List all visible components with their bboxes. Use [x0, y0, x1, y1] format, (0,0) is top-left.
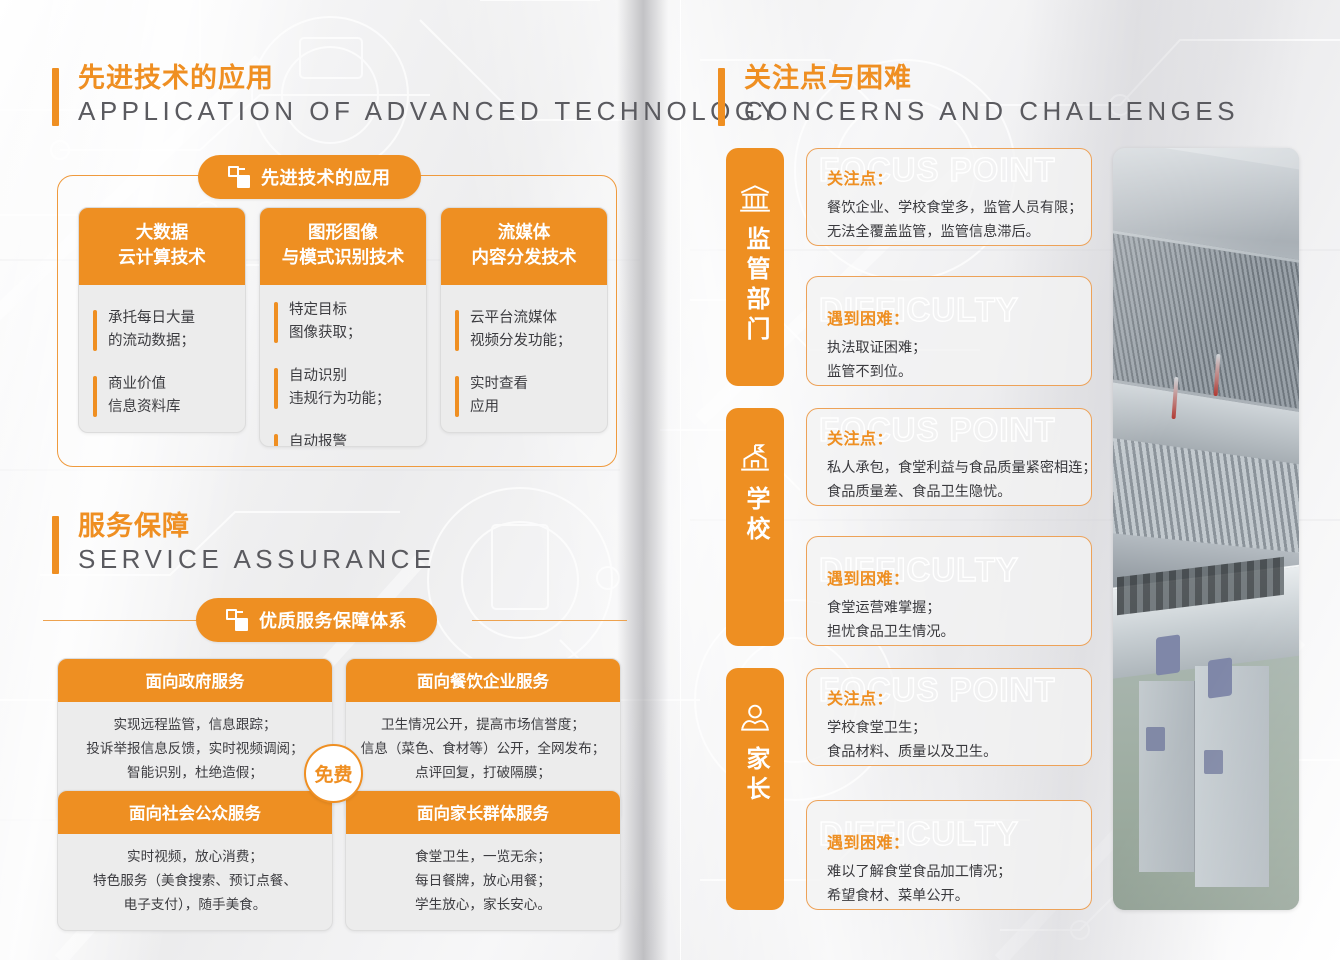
difficulty-card-title: 遇到困难： [827, 829, 1073, 853]
row-tab-school[interactable]: 学校 [726, 408, 784, 646]
tech-card-title-line2: 云计算技术 [85, 245, 239, 270]
tech-card-title-line1: 流媒体 [447, 220, 601, 245]
pill-label: 先进技术的应用 [261, 164, 391, 190]
row-tab-label: 家长 [743, 746, 767, 806]
tech-card-body: 特定目标 图像获取； 自动识别 违规行为功能； 自动报警 模式 [260, 285, 426, 447]
pill-service-assurance[interactable]: 优质服务保障体系 [196, 598, 437, 642]
divider-left [43, 620, 198, 621]
row-tab-label: 学校 [743, 486, 767, 546]
tech-card-image-recognition: 图形图像 与模式识别技术 特定目标 图像获取； 自动识别 违规行为功能； 自动报… [259, 207, 427, 447]
tech-card-streaming: 流媒体 内容分发技术 云平台流媒体 视频分发功能； 实时查看 应用 [440, 207, 608, 433]
person-icon [738, 702, 772, 736]
focus-card-title: 关注点： [827, 685, 1073, 709]
heading-title-en: CONCERNS AND CHALLENGES [744, 94, 1239, 129]
focus-card-regulator: FOCUS POINT 关注点： 餐饮企业、学校食堂多，监管人员有限； 无法全覆… [806, 148, 1092, 246]
section-heading-concerns: 关注点与困难 CONCERNS AND CHALLENGES [718, 62, 1239, 129]
tech-card-bigdata: 大数据 云计算技术 承托每日大量 的流动数据； 商业价值 信息资料库 [78, 207, 246, 433]
school-building-icon [738, 442, 772, 476]
tech-bullet: 实时查看 应用 [455, 373, 597, 420]
free-badge: 免费 [304, 744, 363, 803]
tech-bullet: 承托每日大量 的流动数据； [93, 307, 235, 354]
commercial-kitchen-photo [1113, 148, 1299, 910]
focus-card-title: 关注点： [827, 425, 1073, 449]
tech-card-title-line2: 内容分发技术 [447, 245, 601, 270]
technology-card-list: 大数据 云计算技术 承托每日大量 的流动数据； 商业价值 信息资料库 图形图像 … [78, 207, 608, 447]
service-box-body: 食堂卫生，一览无余； 每日餐牌，放心用餐； 学生放心，家长安心。 [346, 834, 620, 930]
tech-bullet: 自动报警 模式 [274, 431, 416, 447]
section-heading-advanced-technology: 先进技术的应用 APPLICATION OF ADVANCED TECHNOLO… [52, 62, 781, 129]
stacked-squares-icon [228, 166, 250, 188]
pill-advanced-technology[interactable]: 先进技术的应用 [198, 155, 421, 199]
service-box-title: 面向餐饮企业服务 [346, 659, 620, 702]
focus-card-title: 关注点： [827, 165, 1073, 189]
heading-title-cn: 关注点与困难 [744, 62, 1239, 94]
service-box-title: 面向社会公众服务 [58, 791, 332, 834]
section-heading-service-assurance: 服务保障 SERVICE ASSURANCE [52, 510, 436, 577]
tech-bullet: 商业价值 信息资料库 [93, 373, 235, 420]
service-box-title: 面向家长群体服务 [346, 791, 620, 834]
tech-card-title-line1: 大数据 [85, 220, 239, 245]
heading-title-en: SERVICE ASSURANCE [78, 542, 436, 577]
focus-card-school: FOCUS POINT 关注点： 私人承包，食堂利益与食品质量紧密相连； 食品质… [806, 408, 1092, 506]
heading-title-cn: 先进技术的应用 [78, 62, 781, 94]
service-box-public: 面向社会公众服务 实时视频，放心消费； 特色服务（美食搜索、预订点餐、 电子支付… [57, 790, 333, 931]
row-tab-label: 监管部门 [743, 226, 767, 346]
heading-title-cn: 服务保障 [78, 510, 436, 542]
tech-bullet: 云平台流媒体 视频分发功能； [455, 307, 597, 354]
heading-accent-bar [52, 68, 59, 126]
tech-card-header: 大数据 云计算技术 [79, 208, 245, 285]
difficulty-card-regulator: DIFFICULTY 遇到困难： 执法取证困难； 监管不到位。 [806, 276, 1092, 386]
tech-bullet: 自动识别 违规行为功能； [274, 365, 416, 412]
poster-page: 先进技术的应用 APPLICATION OF ADVANCED TECHNOLO… [0, 0, 1340, 960]
heading-accent-bar [52, 516, 59, 574]
difficulty-card-school: DIFFICULTY 遇到困难： 食堂运营难掌握； 担忧食品卫生情况。 [806, 536, 1092, 646]
heading-accent-bar [718, 68, 725, 126]
difficulty-card-title: 遇到困难： [827, 305, 1073, 329]
row-tab-parents[interactable]: 家长 [726, 668, 784, 910]
tech-card-body: 承托每日大量 的流动数据； 商业价值 信息资料库 [79, 285, 245, 433]
service-box-body: 实时视频，放心消费； 特色服务（美食搜索、预订点餐、 电子支付），随手美食。 [58, 834, 332, 930]
service-box-parents: 面向家长群体服务 食堂卫生，一览无余； 每日餐牌，放心用餐； 学生放心，家长安心… [345, 790, 621, 931]
tech-card-title-line1: 图形图像 [266, 220, 420, 245]
government-building-icon [738, 182, 772, 216]
difficulty-card-title: 遇到困难： [827, 565, 1073, 589]
stacked-squares-icon [226, 609, 248, 631]
service-box-title: 面向政府服务 [58, 659, 332, 702]
tech-bullet: 特定目标 图像获取； [274, 299, 416, 346]
tech-card-header: 流媒体 内容分发技术 [441, 208, 607, 285]
row-tab-regulator[interactable]: 监管部门 [726, 148, 784, 386]
tech-card-body: 云平台流媒体 视频分发功能； 实时查看 应用 [441, 285, 607, 433]
difficulty-card-parents: DIFFICULTY 遇到困难： 难以了解食堂食品加工情况； 希望食材、菜单公开… [806, 800, 1092, 910]
pill-label: 优质服务保障体系 [259, 607, 407, 633]
focus-card-parents: FOCUS POINT 关注点： 学校食堂卫生； 食品材料、质量以及卫生。 [806, 668, 1092, 766]
tech-card-header: 图形图像 与模式识别技术 [260, 208, 426, 285]
tech-card-title-line2: 与模式识别技术 [266, 245, 420, 270]
heading-title-en: APPLICATION OF ADVANCED TECHNOLOGY [78, 94, 781, 129]
divider-right [472, 620, 627, 621]
